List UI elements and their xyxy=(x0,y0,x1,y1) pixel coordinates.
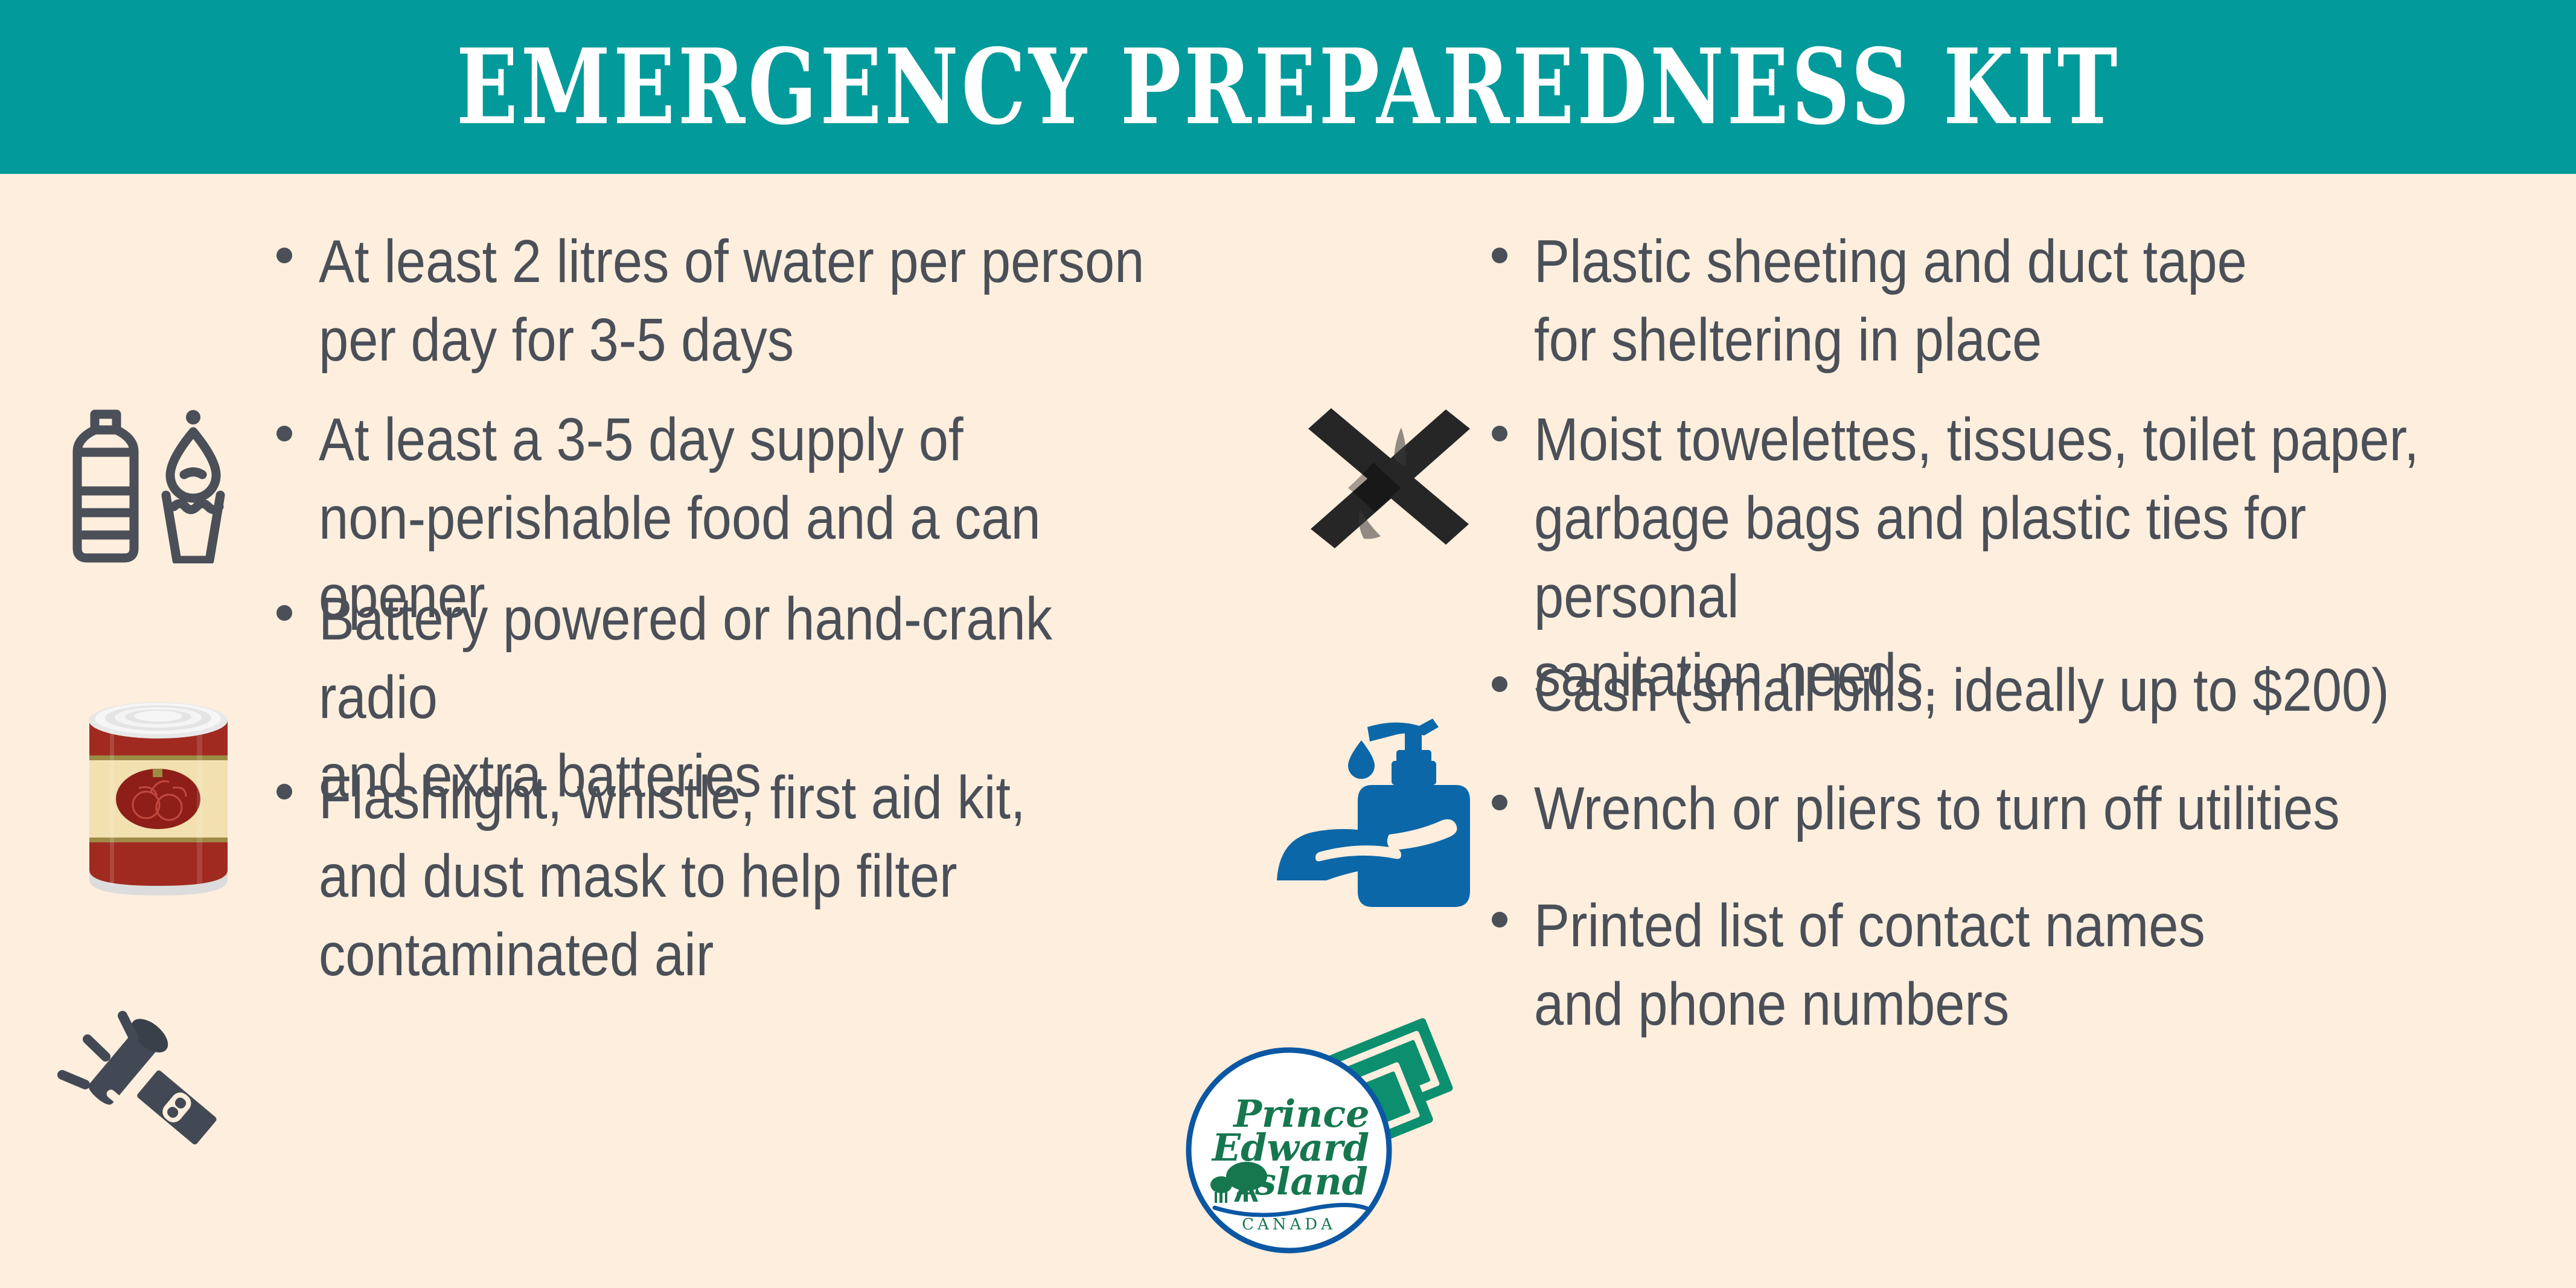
list-item: Plastic sheeting and duct tape for shelt… xyxy=(1492,222,2339,379)
right-column: Plastic sheeting and duct tape for shelt… xyxy=(1288,174,2576,1288)
logo-country: CANADA xyxy=(1242,1216,1336,1234)
page-title: EMERGENCY PREPAREDNESS KIT xyxy=(456,35,2120,139)
bullet-point-icon xyxy=(276,248,292,263)
infographic-poster: EMERGENCY PREPAREDNESS KIT xyxy=(0,0,2576,1288)
canned-food-icon xyxy=(78,684,238,902)
list-item-label: Printed list of contact names and phone … xyxy=(1534,886,2205,1043)
prince-edward-island-canada-logo: Prince Edward Island CANADA xyxy=(1183,1045,1395,1256)
bullet-point-icon xyxy=(1492,795,1507,810)
list-item: Wrench or pliers to turn off utilities xyxy=(1492,769,2444,848)
list-item-label: Wrench or pliers to turn off utilities xyxy=(1534,769,2340,848)
header-banner: EMERGENCY PREPAREDNESS KIT xyxy=(0,0,2576,174)
list-item: Printed list of contact names and phone … xyxy=(1492,886,2292,1043)
bullet-point-icon xyxy=(1492,248,1507,263)
list-item-label: At least 2 litres of water per person pe… xyxy=(319,222,1144,379)
list-item: Cash (small bills, ideally up to $200) xyxy=(1492,651,2501,729)
bullet-point-icon xyxy=(1492,426,1507,441)
list-item: At least 2 litres of water per person pe… xyxy=(276,222,1251,379)
bullet-point-icon xyxy=(276,784,292,799)
list-item-label: Cash (small bills, ideally up to $200) xyxy=(1534,651,2389,729)
bullet-point-icon xyxy=(276,426,292,441)
bullet-point-icon xyxy=(1492,912,1507,928)
soap-dispenser-icon xyxy=(1271,705,1482,917)
list-item-label: Plastic sheeting and duct tape for shelt… xyxy=(1534,222,2247,379)
flashlight-icon xyxy=(45,971,257,1200)
water-bottle-and-glass-icon xyxy=(57,388,251,563)
bullet-point-icon xyxy=(1492,676,1507,692)
duct-tape-x-icon xyxy=(1283,391,1491,566)
list-item: Flashlight, whistle, first aid kit, and … xyxy=(276,758,1117,994)
bullet-point-icon xyxy=(276,605,292,621)
left-column: At least 2 litres of water per person pe… xyxy=(0,174,1288,1288)
list-item-label: Flashlight, whistle, first aid kit, and … xyxy=(319,758,1026,994)
